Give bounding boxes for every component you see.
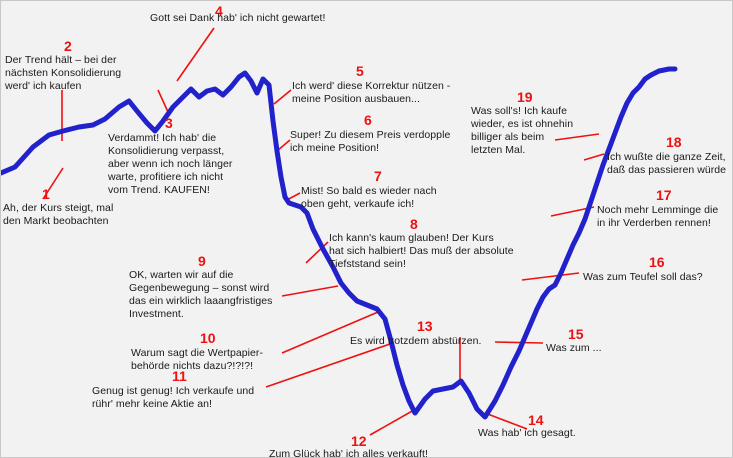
- annotation-text-10: Warum sagt die Wertpapier- behörde nicht…: [131, 347, 263, 373]
- annotation-number-14: 14: [528, 413, 544, 427]
- annotation-number-15: 15: [568, 327, 584, 341]
- annotation-number-19: 19: [517, 90, 533, 104]
- annotation-number-8: 8: [410, 217, 418, 231]
- annotation-number-16: 16: [649, 255, 665, 269]
- annotation-text-5: Ich werd' diese Korrektur nützen - meine…: [292, 80, 450, 106]
- leader-line-5: [274, 90, 291, 104]
- annotation-text-12: Zum Glück hab' ich alles verkauft!: [269, 448, 428, 458]
- leader-line-9: [282, 286, 338, 296]
- annotation-text-15: Was zum ...: [546, 342, 602, 355]
- annotation-text-3: Verdammt! Ich hab' die Konsolidierung ve…: [108, 132, 232, 197]
- leader-line-18: [584, 154, 604, 160]
- annotation-text-2: Der Trend hält – bei der nächsten Konsol…: [5, 54, 121, 93]
- annotation-text-8: Ich kann's kaum glauben! Der Kurs hat si…: [329, 232, 514, 271]
- annotation-text-16: Was zum Teufel soll das?: [583, 271, 703, 284]
- annotation-text-18: Ich wußte die ganze Zeit, daß das passie…: [607, 151, 726, 177]
- annotation-text-14: Was hab' ich gesagt.: [478, 427, 576, 440]
- annotation-text-4: Gott sei Dank hab' ich nicht gewartet!: [150, 12, 326, 25]
- leader-line-4: [177, 28, 214, 81]
- annotation-number-6: 6: [364, 113, 372, 127]
- annotation-text-19: Was soll's! Ich kaufe wieder, es ist ohn…: [471, 105, 573, 157]
- leader-line-16: [522, 273, 579, 280]
- annotation-number-1: 1: [42, 187, 50, 201]
- leader-line-15: [495, 342, 543, 343]
- annotation-text-9: OK, warten wir auf die Gegenbewegung – s…: [129, 269, 272, 321]
- annotation-number-18: 18: [666, 135, 682, 149]
- annotation-number-17: 17: [656, 188, 672, 202]
- annotation-number-7: 7: [374, 169, 382, 183]
- leader-line-11: [266, 344, 390, 387]
- annotation-number-2: 2: [64, 39, 72, 53]
- annotation-number-5: 5: [356, 64, 364, 78]
- annotation-number-10: 10: [200, 331, 216, 345]
- annotation-number-3: 3: [165, 116, 173, 130]
- annotation-number-11: 11: [172, 369, 187, 383]
- annotation-text-7: Mist! So bald es wieder nach oben geht, …: [301, 185, 437, 211]
- stock-emotion-chart: 1Ah, der Kurs steigt, mal den Markt beob…: [0, 0, 733, 458]
- annotation-number-13: 13: [417, 319, 433, 333]
- annotation-text-6: Super! Zu diesem Preis verdopple ich mei…: [290, 129, 450, 155]
- annotation-text-13: Es wird trotzdem abstürzen.: [350, 335, 481, 348]
- annotation-text-17: Noch mehr Lemminge die in ihr Verderben …: [597, 204, 718, 230]
- leader-line-3: [158, 90, 168, 112]
- annotation-text-1: Ah, der Kurs steigt, mal den Markt beoba…: [3, 202, 113, 228]
- annotation-number-9: 9: [198, 254, 206, 268]
- leader-line-12: [370, 410, 414, 435]
- annotation-text-11: Genug ist genug! Ich verkaufe und rühr' …: [92, 385, 254, 411]
- annotation-number-12: 12: [351, 434, 367, 448]
